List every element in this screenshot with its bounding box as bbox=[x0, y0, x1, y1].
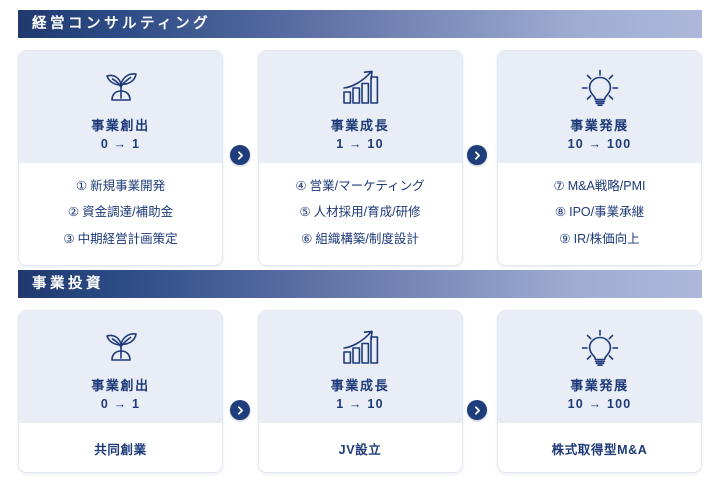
card-row-consulting: 事業創出 0 → 1 ①新規事業開発 ②資金調達/補助金 ③中期経営計画策定 bbox=[18, 50, 702, 266]
list-item[interactable]: ⑥組織構築/制度設計 bbox=[273, 226, 448, 253]
infographic-page: 経営コンサルティング 事業創出 bbox=[0, 0, 720, 480]
card-title: 事業創出 bbox=[27, 377, 214, 395]
list-item[interactable]: ⑤人材採用/育成/研修 bbox=[273, 200, 448, 227]
growth-chart-icon bbox=[267, 63, 454, 113]
card-stage: 1 → 10 bbox=[267, 396, 454, 414]
card-investment-development[interactable]: 事業発展 10 → 100 株式取得型M&A bbox=[497, 310, 702, 473]
list-item[interactable]: ⑧IPO/事業承継 bbox=[512, 200, 687, 227]
card-investment-growth[interactable]: 事業成長 1 → 10 JV設立 bbox=[258, 310, 463, 473]
service-item-list: ⑦M&A戦略/PMI ⑧IPO/事業承継 ⑨IR/株価向上 bbox=[498, 173, 701, 253]
card-row-investment: 事業創出 0 → 1 共同創業 bbox=[18, 310, 702, 473]
investment-type-label: 共同創業 bbox=[19, 433, 222, 460]
card-stage: 10 → 100 bbox=[506, 136, 693, 154]
item-number: ④ bbox=[295, 179, 306, 193]
item-label: 資金調達/補助金 bbox=[82, 205, 173, 219]
card-body: JV設立 bbox=[259, 423, 462, 472]
card-title: 事業成長 bbox=[267, 117, 454, 135]
sprout-icon bbox=[27, 323, 214, 373]
card-business-development[interactable]: 事業発展 10 → 100 ⑦M&A戦略/PMI ⑧IPO/事業承継 ⑨IR/株… bbox=[497, 50, 702, 266]
item-number: ⑤ bbox=[299, 205, 310, 219]
service-item-list: ①新規事業開発 ②資金調達/補助金 ③中期経営計画策定 bbox=[19, 173, 222, 253]
list-item[interactable]: ①新規事業開発 bbox=[33, 173, 208, 200]
item-number: ⑥ bbox=[301, 232, 312, 246]
card-header: 事業成長 1 → 10 bbox=[259, 311, 462, 423]
section-investment: 事業投資 事業創出 bbox=[0, 260, 720, 473]
card-header: 事業創出 0 → 1 bbox=[19, 311, 222, 423]
item-label: 営業/マーケティング bbox=[310, 179, 425, 193]
item-label: M&A戦略/PMI bbox=[568, 179, 646, 193]
card-header: 事業成長 1 → 10 bbox=[259, 51, 462, 163]
chevron-right-icon bbox=[467, 145, 487, 165]
card-body: ⑦M&A戦略/PMI ⑧IPO/事業承継 ⑨IR/株価向上 bbox=[498, 163, 701, 265]
section-banner-investment: 事業投資 bbox=[18, 270, 702, 298]
card-title: 事業発展 bbox=[506, 377, 693, 395]
service-item-list: ④営業/マーケティング ⑤人材採用/育成/研修 ⑥組織構築/制度設計 bbox=[259, 173, 462, 253]
card-business-creation[interactable]: 事業創出 0 → 1 ①新規事業開発 ②資金調達/補助金 ③中期経営計画策定 bbox=[18, 50, 223, 266]
lightbulb-icon bbox=[506, 323, 693, 373]
item-number: ③ bbox=[63, 232, 74, 246]
card-header: 事業発展 10 → 100 bbox=[498, 311, 701, 423]
list-item[interactable]: ②資金調達/補助金 bbox=[33, 200, 208, 227]
card-header: 事業発展 10 → 100 bbox=[498, 51, 701, 163]
section-consulting: 経営コンサルティング 事業創出 bbox=[0, 0, 720, 266]
item-label: IPO/事業承継 bbox=[569, 205, 644, 219]
chevron-right-icon bbox=[230, 145, 250, 165]
card-title: 事業成長 bbox=[267, 377, 454, 395]
card-title: 事業創出 bbox=[27, 117, 214, 135]
item-label: 人材採用/育成/研修 bbox=[314, 205, 421, 219]
card-stage: 0 → 1 bbox=[27, 136, 214, 154]
item-number: ⑦ bbox=[553, 179, 564, 193]
list-item[interactable]: ⑨IR/株価向上 bbox=[512, 226, 687, 253]
sprout-icon bbox=[27, 63, 214, 113]
card-stage: 0 → 1 bbox=[27, 396, 214, 414]
growth-chart-icon bbox=[267, 323, 454, 373]
item-label: 新規事業開発 bbox=[90, 179, 165, 193]
lightbulb-icon bbox=[506, 63, 693, 113]
chevron-right-icon bbox=[467, 400, 487, 420]
card-body: 株式取得型M&A bbox=[498, 423, 701, 472]
list-item[interactable]: ③中期経営計画策定 bbox=[33, 226, 208, 253]
card-body: ④営業/マーケティング ⑤人材採用/育成/研修 ⑥組織構築/制度設計 bbox=[259, 163, 462, 265]
item-label: 中期経営計画策定 bbox=[78, 232, 178, 246]
card-body: ①新規事業開発 ②資金調達/補助金 ③中期経営計画策定 bbox=[19, 163, 222, 265]
card-investment-creation[interactable]: 事業創出 0 → 1 共同創業 bbox=[18, 310, 223, 473]
investment-type-label: 株式取得型M&A bbox=[498, 433, 701, 460]
item-label: IR/株価向上 bbox=[574, 232, 640, 246]
list-item[interactable]: ④営業/マーケティング bbox=[273, 173, 448, 200]
section-banner-consulting: 経営コンサルティング bbox=[18, 10, 702, 38]
section-banner-title: 経営コンサルティング bbox=[18, 17, 211, 32]
item-number: ① bbox=[76, 179, 87, 193]
card-title: 事業発展 bbox=[506, 117, 693, 135]
card-header: 事業創出 0 → 1 bbox=[19, 51, 222, 163]
card-stage: 10 → 100 bbox=[506, 396, 693, 414]
card-stage: 1 → 10 bbox=[267, 136, 454, 154]
item-label: 組織構築/制度設計 bbox=[315, 232, 418, 246]
section-banner-title: 事業投資 bbox=[18, 277, 104, 292]
card-business-growth[interactable]: 事業成長 1 → 10 ④営業/マーケティング ⑤人材採用/育成/研修 ⑥組織構… bbox=[258, 50, 463, 266]
chevron-right-icon bbox=[230, 400, 250, 420]
item-number: ⑨ bbox=[559, 232, 570, 246]
item-number: ⑧ bbox=[555, 205, 566, 219]
card-body: 共同創業 bbox=[19, 423, 222, 472]
item-number: ② bbox=[68, 205, 79, 219]
list-item[interactable]: ⑦M&A戦略/PMI bbox=[512, 173, 687, 200]
investment-type-label: JV設立 bbox=[259, 433, 462, 460]
